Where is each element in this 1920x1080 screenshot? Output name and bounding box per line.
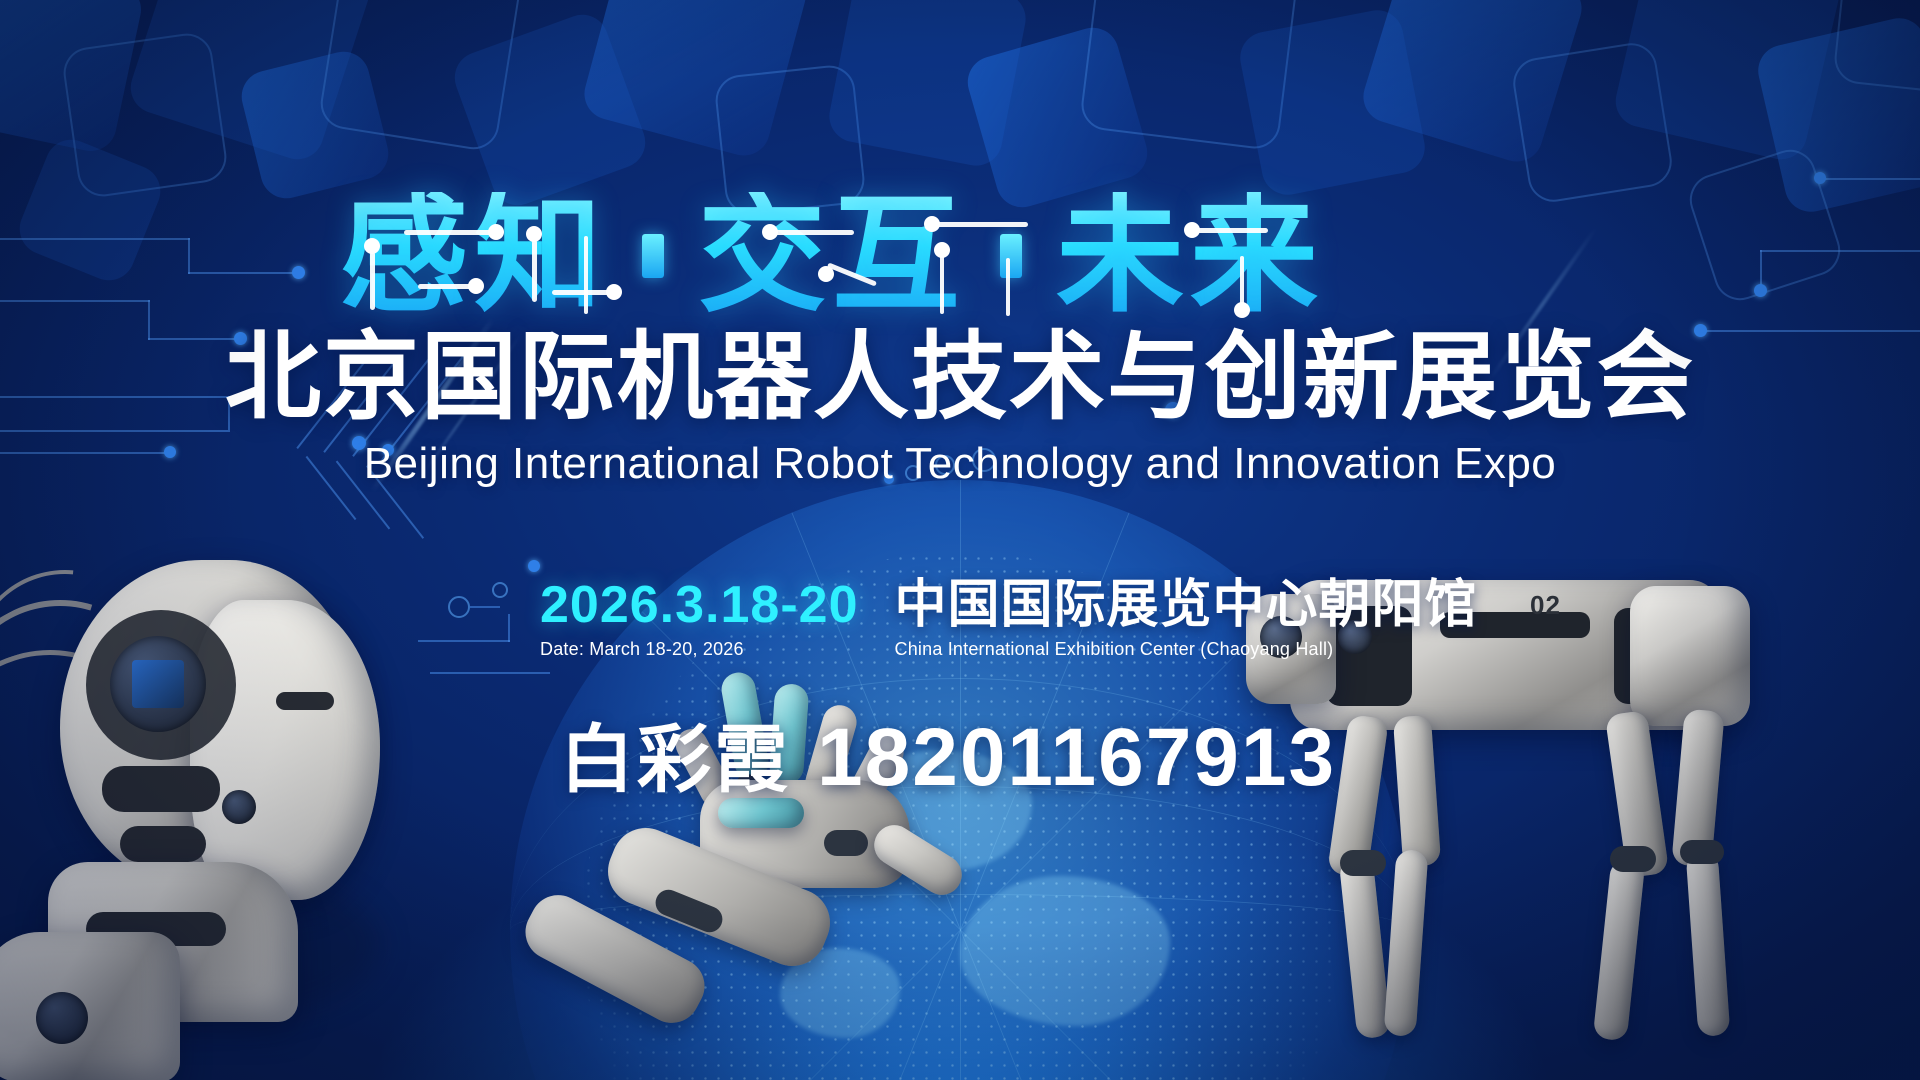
tagline-circuit-line bbox=[1006, 258, 1010, 316]
tagline-separator-2 bbox=[1000, 234, 1022, 278]
expo-banner: 02 感知 交互 未来 bbox=[0, 0, 1920, 1080]
tagline: 感知 交互 未来 bbox=[340, 186, 1600, 326]
event-meta: 2026.3.18-20 Date: March 18-20, 2026 中国国… bbox=[540, 578, 1478, 660]
tagline-circuit-line bbox=[418, 284, 474, 289]
event-date: 2026.3.18-20 Date: March 18-20, 2026 bbox=[540, 578, 859, 660]
tagline-word-2: 交互 bbox=[698, 192, 966, 320]
title-english: Beijing International Robot Technology a… bbox=[210, 440, 1710, 488]
title-chinese: 北京国际机器人技术与创新展览会 bbox=[180, 330, 1740, 426]
contact-name: 白彩霞 bbox=[560, 700, 791, 807]
tagline-word-3: 未来 bbox=[1056, 192, 1324, 320]
tagline-circuit-node bbox=[1234, 302, 1250, 318]
event-date-secondary: Date: March 18-20, 2026 bbox=[540, 639, 859, 660]
tagline-word-1: 感知 bbox=[340, 192, 608, 320]
tagline-circuit-node bbox=[488, 224, 504, 240]
tagline-circuit-line bbox=[584, 236, 588, 314]
tagline-circuit-line bbox=[770, 230, 854, 235]
tagline-circuit-line bbox=[370, 252, 375, 310]
tagline-circuit-line bbox=[932, 222, 1028, 227]
tagline-circuit-line bbox=[404, 230, 496, 235]
tagline-circuit-node bbox=[606, 284, 622, 300]
contact-phone: 18201167913 bbox=[817, 711, 1336, 805]
event-venue-primary: 中国国际展览中心朝阳馆 bbox=[895, 578, 1478, 633]
event-date-primary: 2026.3.18-20 bbox=[540, 578, 859, 633]
tagline-circuit-line bbox=[532, 240, 537, 302]
tagline-circuit-line bbox=[552, 290, 614, 295]
contact-info: 白彩霞 18201167913 bbox=[560, 700, 1336, 807]
tagline-circuit-node bbox=[924, 216, 940, 232]
event-venue-secondary: China International Exhibition Center (C… bbox=[895, 639, 1478, 660]
tagline-circuit-line bbox=[1192, 228, 1268, 233]
banner-content: 感知 交互 未来 bbox=[0, 0, 1920, 1080]
event-venue: 中国国际展览中心朝阳馆 China International Exhibiti… bbox=[895, 578, 1478, 660]
tagline-circuit-node bbox=[934, 242, 950, 258]
tagline-circuit-node bbox=[468, 278, 484, 294]
tagline-circuit-node bbox=[762, 224, 778, 240]
tagline-separator-1 bbox=[642, 234, 664, 278]
tagline-circuit-node bbox=[1184, 222, 1200, 238]
tagline-circuit-node bbox=[818, 266, 834, 282]
